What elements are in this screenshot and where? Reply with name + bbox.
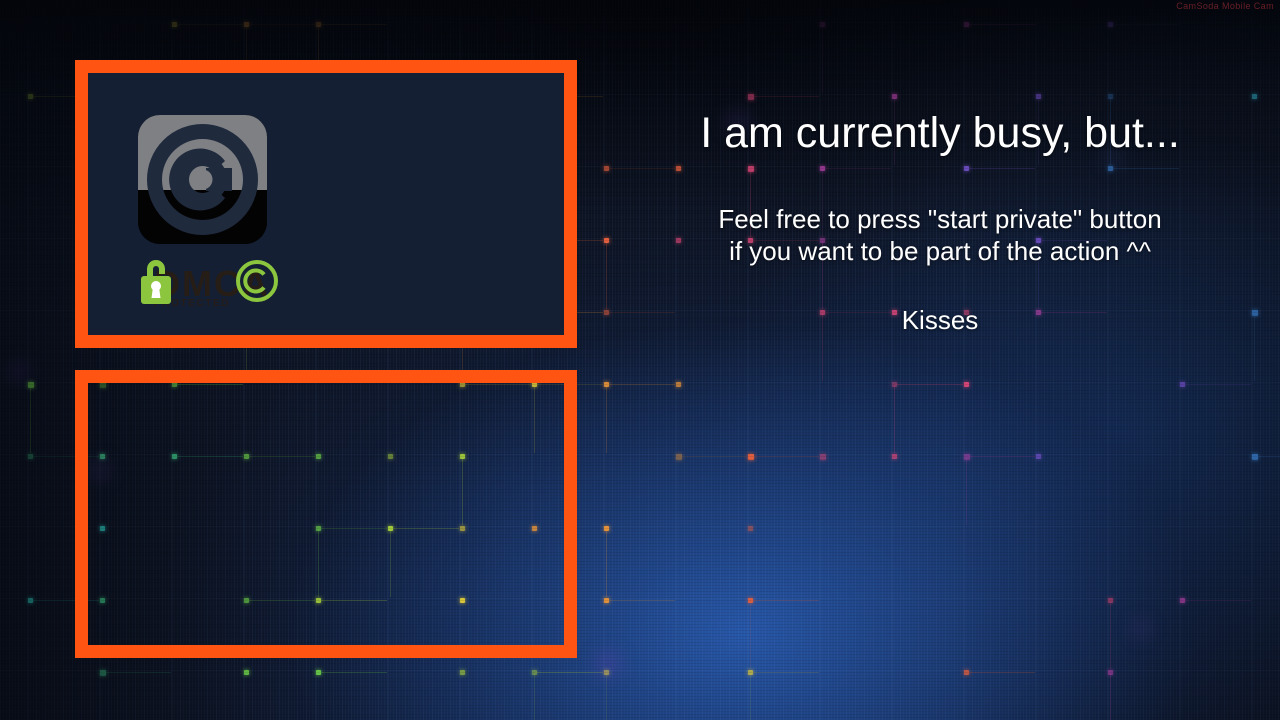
message-body: Feel free to press "start private" butto… [640, 155, 1240, 267]
screen-root: CamSoda Mobile Cam DMCA [0, 0, 1280, 720]
video-placeholder-top-inner: DMCA PROTECTED [88, 73, 564, 335]
video-placeholder-top[interactable]: DMCA PROTECTED [75, 60, 577, 348]
message-body-line-1: Feel free to press "start private" butto… [640, 203, 1240, 235]
message-body-line-2: if you want to be part of the action ^^ [640, 235, 1240, 267]
dmca-badge: DMCA PROTECTED [136, 255, 316, 317]
video-placeholder-bottom-inner [88, 383, 564, 645]
message-signoff: Kisses [640, 267, 1240, 336]
site-watermark: CamSoda Mobile Cam [1176, 1, 1274, 11]
padlock-icon [136, 255, 176, 307]
copyright-icon [138, 115, 267, 244]
copyright-symbol-icon [146, 123, 259, 236]
message-title: I am currently busy, but... [640, 112, 1240, 155]
copyright-circle-icon [234, 258, 280, 304]
video-placeholder-bottom[interactable] [75, 370, 577, 658]
copyright-overlay: DMCA PROTECTED [138, 115, 338, 315]
status-message: I am currently busy, but... Feel free to… [640, 112, 1240, 336]
